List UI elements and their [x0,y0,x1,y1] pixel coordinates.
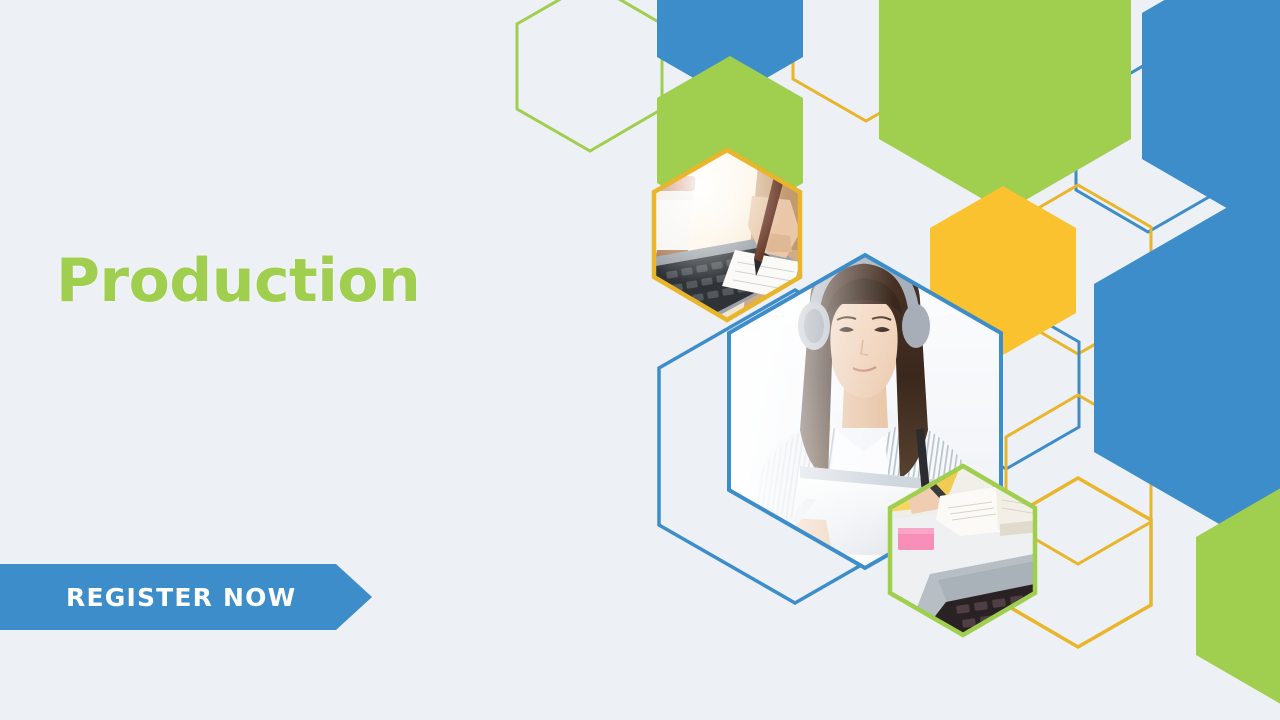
register-now-button[interactable]: REGISTER NOW [0,564,372,630]
page-title: Production [56,250,420,313]
register-now-label: REGISTER NOW [0,583,296,612]
headline-block: Production [56,250,420,313]
slide-banner: Production REGISTER NOW [0,0,1280,720]
